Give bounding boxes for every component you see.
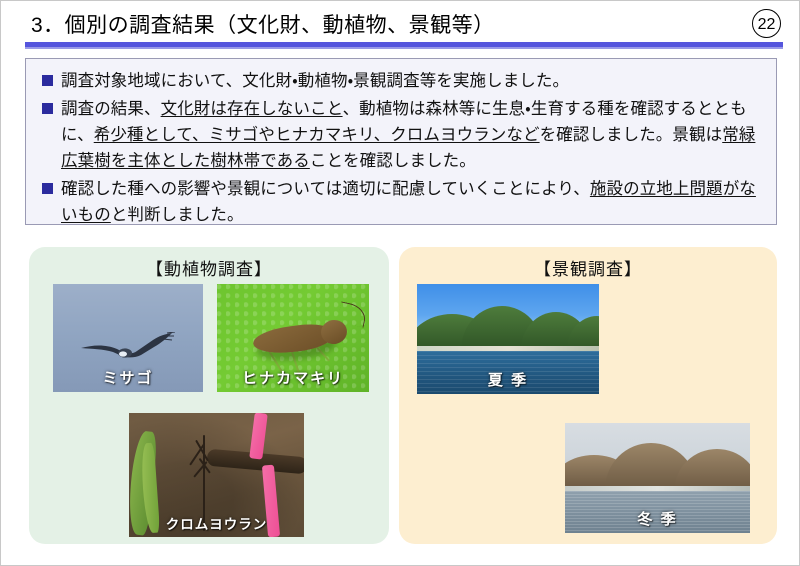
bullet-square-icon: [42, 183, 53, 194]
osprey-silhouette-icon: [79, 332, 175, 362]
panel-landscape-title: 【景観調査】: [399, 247, 777, 280]
hill-shape: [675, 449, 750, 489]
photo-summer-landscape: 夏 季: [417, 284, 599, 394]
panel-flora-title: 【動植物調査】: [29, 247, 389, 280]
photo-caption: 夏 季: [417, 369, 599, 390]
photo-caption: ミサゴ: [53, 367, 203, 388]
bullet-item: 確認した種への影響や景観については適切に配慮していくことにより、施設の立地上問題…: [36, 176, 766, 228]
photo-osprey: ミサゴ: [53, 284, 203, 392]
photo-caption: ヒナカマキリ: [217, 367, 369, 388]
photo-orchid: クロムヨウラン: [129, 413, 304, 537]
summary-text-box: 調査対象地域において、文化財・動植物・景観調査等を実施しました。 調査の結果、文…: [25, 58, 777, 225]
bullet-text: 確認した種への影響や景観については適切に配慮していくことにより、施設の立地上問題…: [61, 176, 766, 228]
title-divider: [25, 42, 783, 49]
page-title: 3．個別の調査結果（文化財、動植物、景観等）: [31, 9, 495, 39]
bullet-item: 調査の結果、文化財は存在しないこと、動植物は森林等に生息・生育する種を確認すると…: [36, 96, 766, 174]
photo-winter-landscape: 冬 季: [565, 423, 750, 533]
slide: 3．個別の調査結果（文化財、動植物、景観等） 22 調査対象地域において、文化財…: [0, 0, 800, 566]
bullet-square-icon: [42, 103, 53, 114]
pink-survey-tape-icon: [249, 413, 268, 460]
bullet-text: 調査対象地域において、文化財・動植物・景観調査等を実施しました。: [61, 68, 569, 94]
bullet-text: 調査の結果、文化財は存在しないこと、動植物は森林等に生息・生育する種を確認すると…: [61, 96, 766, 174]
photo-caption: 冬 季: [565, 508, 750, 529]
photo-caption: クロムヨウラン: [129, 513, 304, 533]
bullet-item: 調査対象地域において、文化財・動植物・景観調査等を実施しました。: [36, 68, 766, 94]
photo-mantis: ヒナカマキリ: [217, 284, 369, 392]
bullet-square-icon: [42, 75, 53, 86]
slide-header: 3．個別の調査結果（文化財、動植物、景観等） 22: [1, 7, 799, 43]
page-number-badge: 22: [752, 9, 781, 38]
